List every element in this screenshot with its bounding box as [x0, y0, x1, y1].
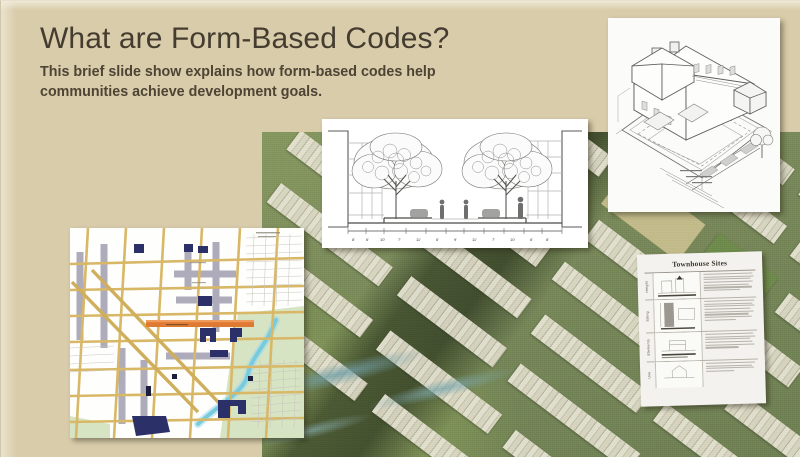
regulating-plan-svg — [70, 228, 304, 438]
standards-row: Height — [644, 270, 756, 300]
svg-text:6': 6' — [436, 237, 439, 242]
svg-text:11': 11' — [416, 237, 421, 242]
svg-text:7': 7' — [398, 237, 401, 242]
standards-row-text — [703, 359, 759, 387]
standards-row-figure — [655, 361, 704, 388]
svg-text:6': 6' — [530, 237, 533, 242]
standards-row-figure — [654, 332, 703, 361]
slide-canvas: 8'6' 10'7' 11'6' 9'11' 7'10' 6'8' — [0, 0, 800, 457]
svg-text:8': 8' — [352, 237, 355, 242]
title-block: What are Form-Based Codes? This brief sl… — [40, 22, 500, 103]
svg-text:10': 10' — [510, 237, 515, 242]
street-section-svg: 8'6' 10'7' 11'6' 9'11' 7'10' 6'8' — [322, 119, 588, 248]
standards-row-text — [702, 330, 758, 360]
svg-text:11': 11' — [472, 237, 477, 242]
slide-title: What are Form-Based Codes? — [40, 22, 500, 55]
svg-text:10': 10' — [380, 237, 385, 242]
slide-left-edge-highlight — [0, 0, 16, 457]
standards-row-figure — [653, 299, 702, 332]
svg-text:8': 8' — [546, 237, 549, 242]
regulating-plan-map — [70, 228, 304, 438]
standards-row-figure — [652, 272, 701, 299]
axonometric-svg — [608, 18, 780, 212]
standards-row: Siting — [645, 297, 757, 333]
svg-text:7': 7' — [492, 237, 495, 242]
slide-subtitle: This brief slide show explains how form-… — [40, 62, 480, 103]
street-section-sketch: 8'6' 10'7' 11'6' 9'11' 7'10' 6'8' — [322, 119, 588, 248]
axonometric-building-diagram — [608, 18, 780, 212]
svg-text:9': 9' — [454, 237, 457, 242]
slide-top-edge-highlight — [0, 0, 800, 10]
standards-page: Townhouse Sites Height — [637, 251, 766, 406]
standards-row: Use — [647, 359, 759, 388]
standards-row-text — [701, 297, 757, 331]
standards-row-text — [700, 270, 756, 298]
standards-row: Elements — [646, 330, 758, 362]
svg-text:6': 6' — [366, 237, 369, 242]
